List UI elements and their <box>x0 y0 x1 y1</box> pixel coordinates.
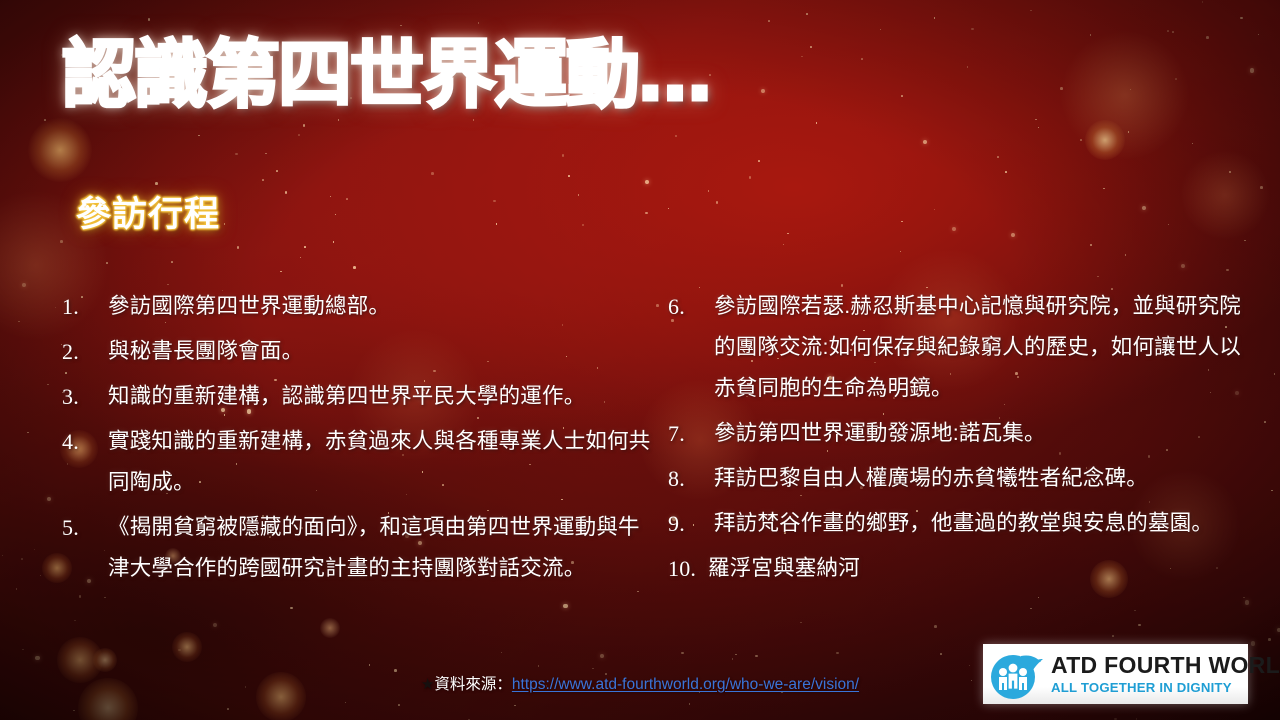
presentation-slide: 認識第四世界運動… 參訪行程 1.參訪國際第四世界運動總部。2.與秘書長團隊會面… <box>0 0 1280 720</box>
page-title: 認識第四世界運動… <box>62 38 710 112</box>
list-item: 2.與秘書長團隊會面。 <box>62 331 652 372</box>
logo-tagline: ALL TOGETHER IN DIGNITY <box>1051 681 1280 694</box>
source-label: 資料來源： <box>434 676 512 693</box>
itinerary-right-column: 6.參訪國際若瑟.赫忍斯基中心記憶與研究院，並與研究院的團隊交流:如何保存與紀錄… <box>668 286 1246 593</box>
list-item-text: 拜訪巴黎自由人權廣場的赤貧犧牲者紀念碑。 <box>714 466 1148 490</box>
list-item-number: 3. <box>62 376 102 417</box>
list-item-number: 1. <box>62 286 102 327</box>
list-item-number: 8. <box>668 458 708 499</box>
itinerary-list-right: 6.參訪國際若瑟.赫忍斯基中心記憶與研究院，並與研究院的團隊交流:如何保存與紀錄… <box>668 286 1246 589</box>
list-item: 6.參訪國際若瑟.赫忍斯基中心記憶與研究院，並與研究院的團隊交流:如何保存與紀錄… <box>668 286 1246 409</box>
star-icon: ★ <box>421 676 434 693</box>
list-item-text: 拜訪梵谷作畫的鄉野，他畫過的教堂與安息的墓園。 <box>714 511 1213 535</box>
list-item: 5.《揭開貧窮被隱藏的面向》，和這項由第四世界運動與牛津大學合作的跨國研究計畫的… <box>62 507 652 589</box>
list-item-number: 9. <box>668 503 708 544</box>
itinerary-left-column: 1.參訪國際第四世界運動總部。2.與秘書長團隊會面。3.知識的重新建構，認識第四… <box>62 286 652 593</box>
list-item: 8.拜訪巴黎自由人權廣場的赤貧犧牲者紀念碑。 <box>668 458 1246 499</box>
atd-fourth-world-logo: ATD FOURTH WORLD ALL TOGETHER IN DIGNITY <box>983 644 1248 704</box>
list-item: 10.羅浮宮與塞納河 <box>668 548 1246 589</box>
list-item-text: 參訪國際若瑟.赫忍斯基中心記憶與研究院，並與研究院的團隊交流:如何保存與紀錄窮人… <box>714 294 1241 400</box>
source-link[interactable]: https://www.atd-fourthworld.org/who-we-a… <box>512 676 859 693</box>
list-item: 3.知識的重新建構，認識第四世界平民大學的運作。 <box>62 376 652 417</box>
atd-globe-icon <box>987 646 1045 702</box>
list-item-text: 《揭開貧窮被隱藏的面向》，和這項由第四世界運動與牛津大學合作的跨國研究計畫的主持… <box>108 515 640 580</box>
list-item-number: 6. <box>668 286 708 327</box>
list-item-text: 知識的重新建構，認識第四世界平民大學的運作。 <box>108 384 585 408</box>
list-item: 9.拜訪梵谷作畫的鄉野，他畫過的教堂與安息的墓園。 <box>668 503 1246 544</box>
list-item: 4.實踐知識的重新建構，赤貧過來人與各種專業人士如何共同陶成。 <box>62 421 652 503</box>
list-item: 1.參訪國際第四世界運動總部。 <box>62 286 652 327</box>
list-item-number: 2. <box>62 331 102 372</box>
logo-name: ATD FOURTH WORLD <box>1051 654 1280 677</box>
list-item-number: 7. <box>668 413 708 454</box>
section-subtitle: 參訪行程 <box>76 186 220 237</box>
logo-wordmark: ATD FOURTH WORLD ALL TOGETHER IN DIGNITY <box>1051 654 1280 694</box>
list-item-number: 4. <box>62 421 102 462</box>
list-item-text: 與秘書長團隊會面。 <box>108 339 303 363</box>
list-item: 7.參訪第四世界運動發源地:諾瓦集。 <box>668 413 1246 454</box>
list-item-text: 羅浮宮與塞納河 <box>708 556 860 580</box>
list-item-number: 10. <box>668 548 706 589</box>
list-item-text: 實踐知識的重新建構，赤貧過來人與各種專業人士如何共同陶成。 <box>108 429 651 494</box>
itinerary-list-left: 1.參訪國際第四世界運動總部。2.與秘書長團隊會面。3.知識的重新建構，認識第四… <box>62 286 652 589</box>
list-item-text: 參訪第四世界運動發源地:諾瓦集。 <box>714 421 1046 445</box>
list-item-number: 5. <box>62 507 102 548</box>
list-item-text: 參訪國際第四世界運動總部。 <box>108 294 390 318</box>
